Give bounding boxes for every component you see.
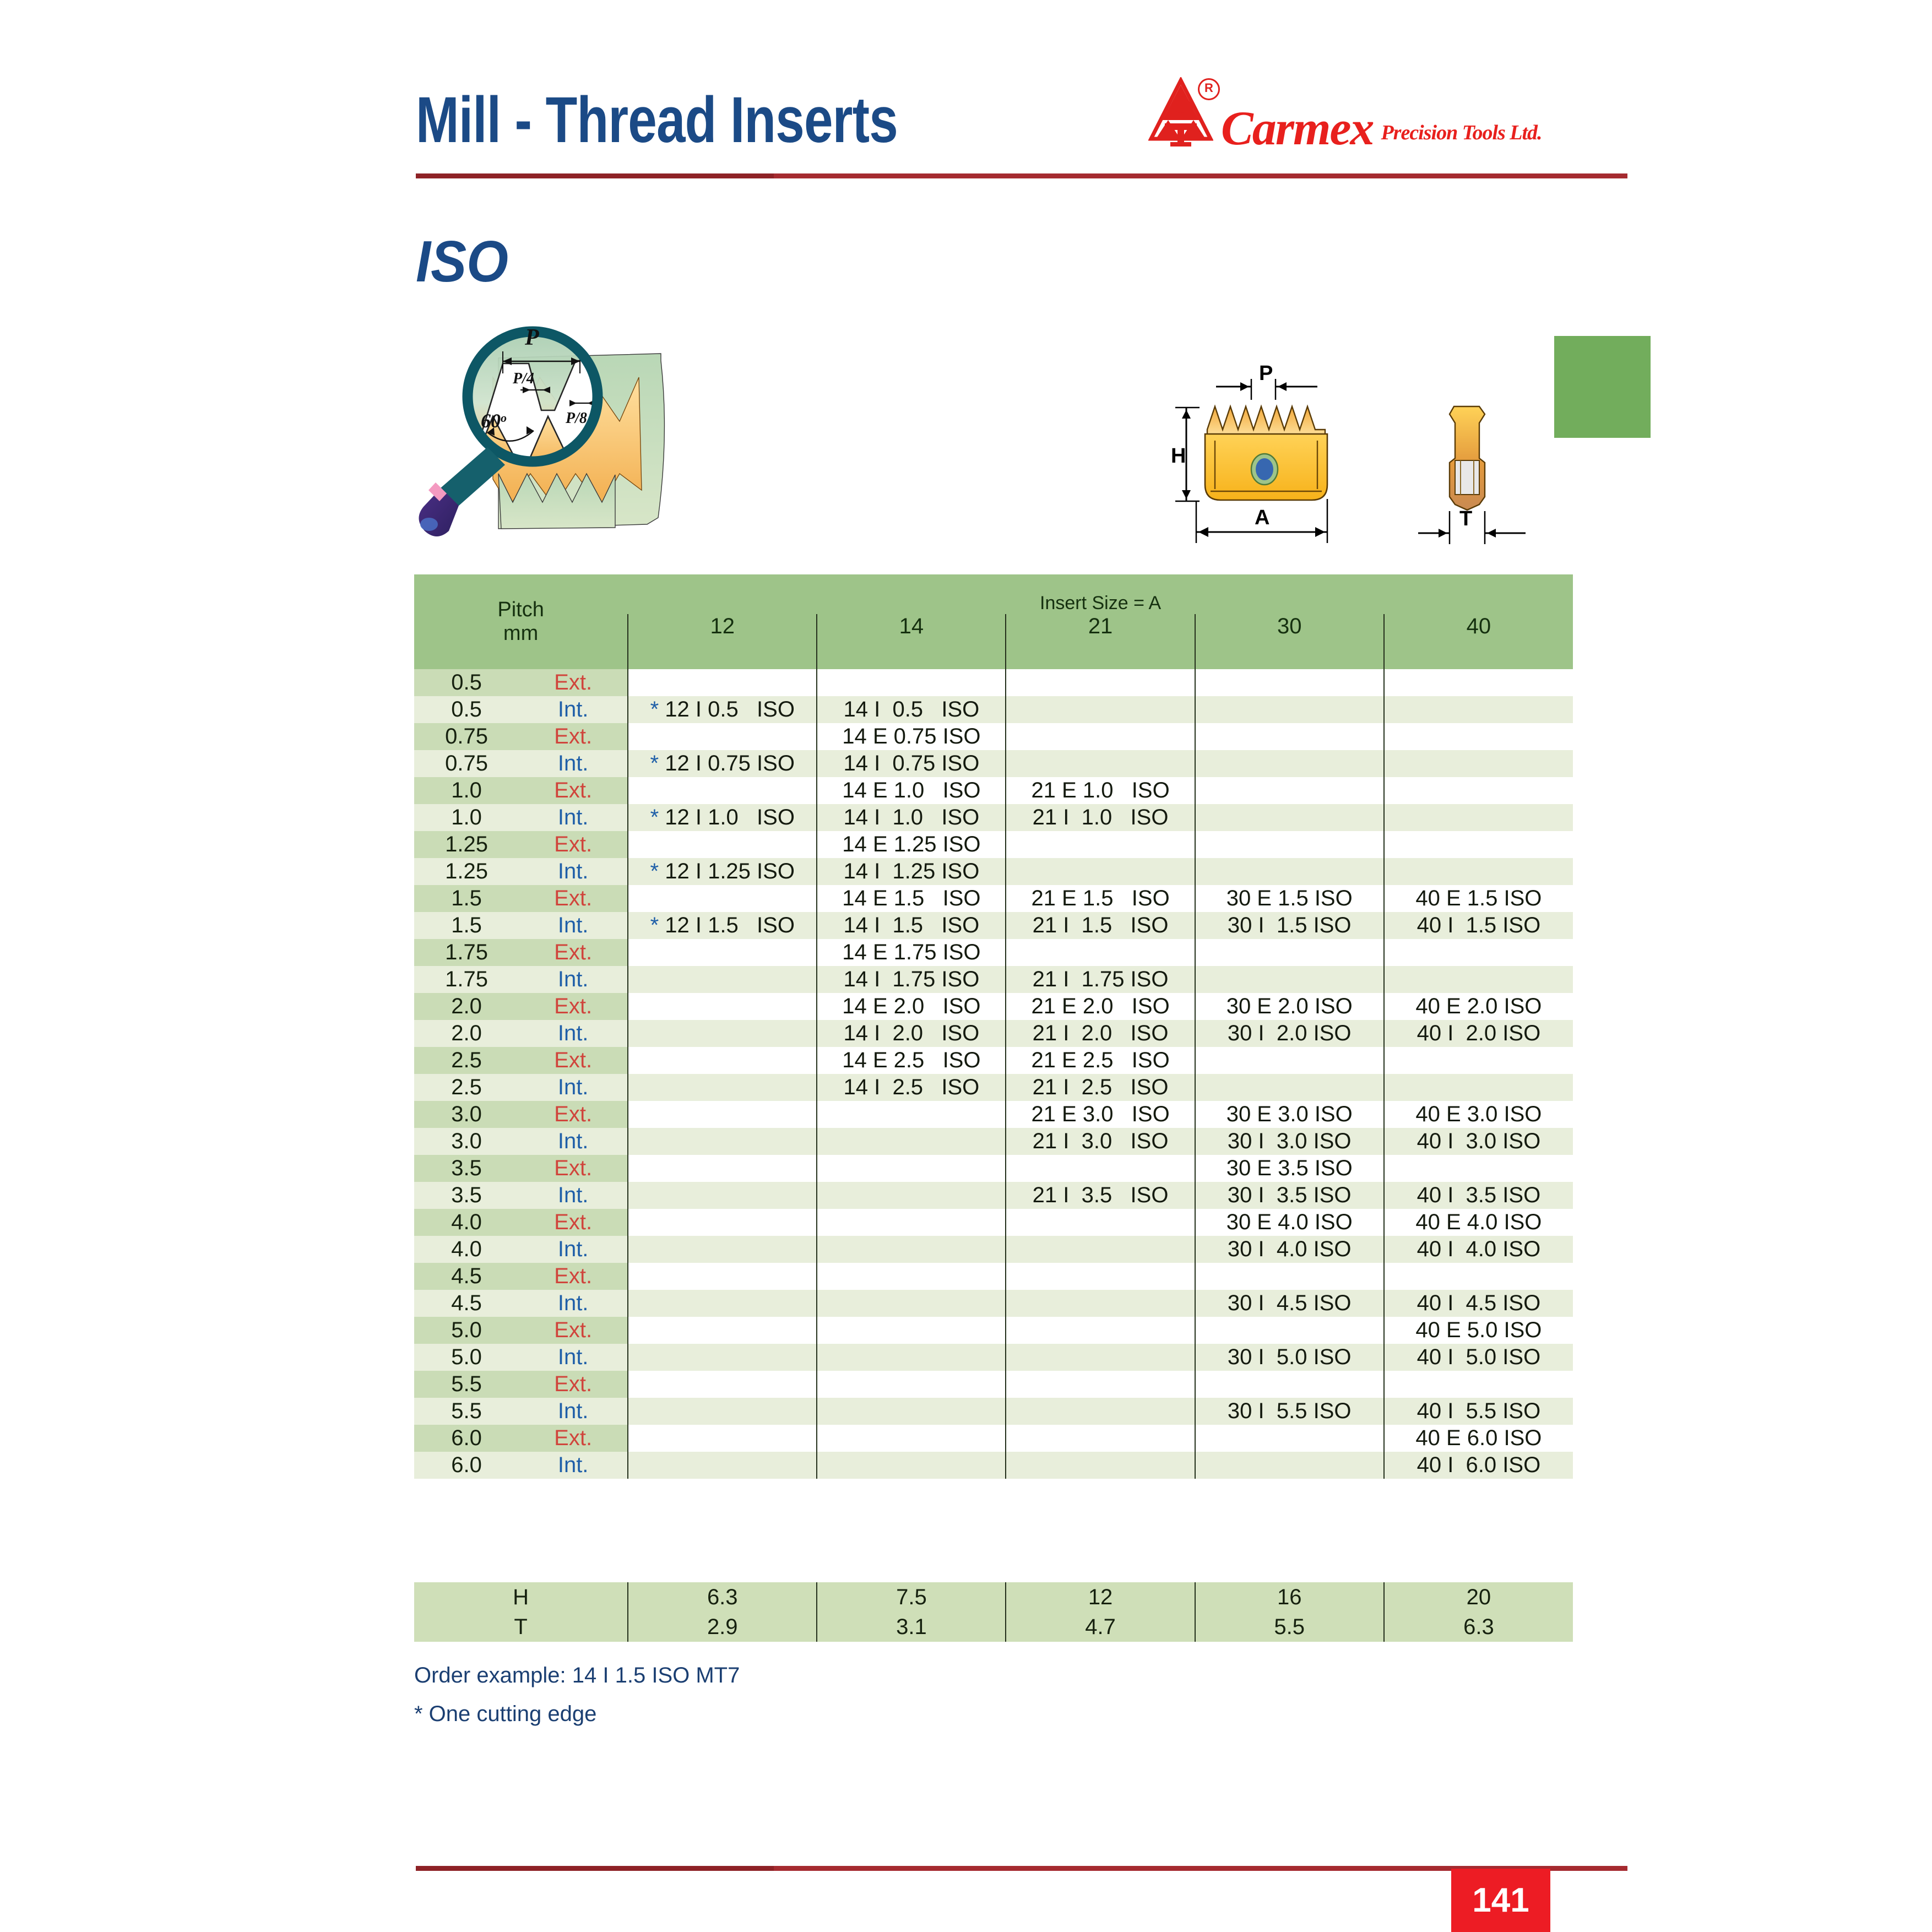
cell-code-40	[1384, 750, 1573, 777]
cell-pitch: 0.5	[414, 669, 519, 696]
logo-wordmark: Carmex	[1221, 107, 1373, 150]
cell-pitch: 1.5	[414, 885, 519, 912]
carmex-logo: R Carmex Precision Tools Ltd.	[1148, 77, 1542, 150]
cell-code-12	[628, 939, 817, 966]
dimension-value-T-12: 2.9	[628, 1612, 817, 1642]
cell-type-int: Int.	[519, 912, 628, 939]
table-row: 1.5Int.* 12 I 1.5 ISO14 I 1.5 ISO21 I 1.…	[414, 912, 1573, 939]
dimension-value-T-30: 5.5	[1195, 1612, 1384, 1642]
cell-code-30	[1195, 1263, 1384, 1290]
cell-type-int: Int.	[519, 1236, 628, 1263]
table-body: 0.5Ext.0.5Int.* 12 I 0.5 ISO14 I 0.5 ISO…	[414, 669, 1573, 1479]
cell-code-40	[1384, 1263, 1573, 1290]
cell-code-14: 14 E 0.75 ISO	[817, 723, 1006, 750]
insert-size-span-header: Insert Size = A	[628, 574, 1573, 614]
cell-code-14	[817, 1155, 1006, 1182]
cell-code-30: 30 I 5.0 ISO	[1195, 1344, 1384, 1371]
cell-code-14: 14 I 2.5 ISO	[817, 1074, 1006, 1101]
one-cutting-edge-marker: *	[650, 859, 659, 883]
cell-code-14	[817, 1101, 1006, 1128]
cell-code-40: 40 I 4.0 ISO	[1384, 1236, 1573, 1263]
insert-size-table: Pitch mm Insert Size = A 12 14 21 30 40 …	[414, 574, 1573, 1479]
cell-type-ext: Ext.	[519, 1425, 628, 1452]
cell-code-40: 40 E 1.5 ISO	[1384, 885, 1573, 912]
cell-code-14: 14 I 0.75 ISO	[817, 750, 1006, 777]
cell-code-30	[1195, 804, 1384, 831]
pitch-header-line1: Pitch	[414, 598, 627, 622]
cell-code-40	[1384, 1155, 1573, 1182]
cell-code-14: 14 E 1.5 ISO	[817, 885, 1006, 912]
table-row: 4.0Ext.30 E 4.0 ISO40 E 4.0 ISO	[414, 1209, 1573, 1236]
cell-pitch: 4.5	[414, 1263, 519, 1290]
cell-pitch: 0.5	[414, 696, 519, 723]
cell-code-21	[1006, 1425, 1195, 1452]
cell-code-14	[817, 1182, 1006, 1209]
cell-code-12	[628, 1263, 817, 1290]
cell-code-12: * 12 I 1.5 ISO	[628, 912, 817, 939]
cell-code-30	[1195, 777, 1384, 804]
cell-type-int: Int.	[519, 1182, 628, 1209]
cell-code-40	[1384, 669, 1573, 696]
cell-code-30	[1195, 750, 1384, 777]
cell-code-30	[1195, 858, 1384, 885]
cell-code-30: 30 I 4.5 ISO	[1195, 1290, 1384, 1317]
footer-divider	[416, 1866, 1627, 1871]
cell-code-40	[1384, 1047, 1573, 1074]
cell-code-14: 14 I 1.75 ISO	[817, 966, 1006, 993]
cell-type-int: Int.	[519, 1344, 628, 1371]
cell-code-40: 40 E 5.0 ISO	[1384, 1317, 1573, 1344]
table-row: 4.5Ext.	[414, 1263, 1573, 1290]
cell-pitch: 5.0	[414, 1317, 519, 1344]
cell-code-21: 21 I 1.75 ISO	[1006, 966, 1195, 993]
insert-dimension-diagram: P H A	[1168, 352, 1564, 567]
cell-code-21: 21 I 2.0 ISO	[1006, 1020, 1195, 1047]
thread-profile-illustration: P P/4 P/8 60o	[410, 308, 708, 562]
cell-code-12	[628, 993, 817, 1020]
cell-pitch: 2.0	[414, 993, 519, 1020]
dimension-value-H-21: 12	[1006, 1582, 1195, 1612]
cell-pitch: 6.0	[414, 1452, 519, 1479]
cell-code-12	[628, 1074, 817, 1101]
cell-pitch: 1.0	[414, 777, 519, 804]
pitch-header: Pitch mm	[414, 574, 628, 669]
cell-type-ext: Ext.	[519, 1263, 628, 1290]
cell-code-12	[628, 1047, 817, 1074]
cell-code-30: 30 I 1.5 ISO	[1195, 912, 1384, 939]
cell-type-ext: Ext.	[519, 777, 628, 804]
cell-code-14: 14 I 0.5 ISO	[817, 696, 1006, 723]
dimension-label-H: H	[414, 1582, 628, 1612]
cell-code-30: 30 E 3.0 ISO	[1195, 1101, 1384, 1128]
cell-code-12	[628, 885, 817, 912]
cutting-edge-footnote: * One cutting edge	[414, 1702, 596, 1727]
table-row: 1.5Ext.14 E 1.5 ISO21 E 1.5 ISO30 E 1.5 …	[414, 885, 1573, 912]
cell-code-30: 30 E 4.0 ISO	[1195, 1209, 1384, 1236]
cell-code-21	[1006, 1290, 1195, 1317]
cell-type-ext: Ext.	[519, 939, 628, 966]
one-cutting-edge-marker: *	[650, 913, 659, 937]
table-row: 5.5Ext.	[414, 1371, 1573, 1398]
cell-type-ext: Ext.	[519, 1371, 628, 1398]
cell-code-40	[1384, 966, 1573, 993]
label-pitch-quarter: P/4	[512, 370, 534, 387]
label-insert-pitch: P	[1259, 362, 1273, 385]
cell-code-14: 14 E 2.5 ISO	[817, 1047, 1006, 1074]
dimension-summary-table: H6.37.5121620T2.93.14.75.56.3	[414, 1582, 1573, 1642]
cell-code-12: * 12 I 0.75 ISO	[628, 750, 817, 777]
cell-type-ext: Ext.	[519, 993, 628, 1020]
cell-pitch: 0.75	[414, 723, 519, 750]
cell-code-40: 40 I 4.5 ISO	[1384, 1290, 1573, 1317]
label-insert-thickness: T	[1459, 507, 1472, 530]
cell-code-14: 14 E 2.0 ISO	[817, 993, 1006, 1020]
cell-code-40: 40 I 1.5 ISO	[1384, 912, 1573, 939]
cell-code-21	[1006, 1263, 1195, 1290]
cell-type-int: Int.	[519, 750, 628, 777]
table-row: 1.25Ext.14 E 1.25 ISO	[414, 831, 1573, 858]
table-row: 5.0Ext.40 E 5.0 ISO	[414, 1317, 1573, 1344]
table-row: 0.75Int.* 12 I 0.75 ISO14 I 0.75 ISO	[414, 750, 1573, 777]
cell-code-30	[1195, 966, 1384, 993]
cell-type-int: Int.	[519, 1290, 628, 1317]
cell-code-40	[1384, 1074, 1573, 1101]
dimension-value-T-14: 3.1	[817, 1612, 1006, 1642]
cell-code-40	[1384, 939, 1573, 966]
table-row: 3.5Ext.30 E 3.5 ISO	[414, 1155, 1573, 1182]
cell-type-ext: Ext.	[519, 1047, 628, 1074]
cell-code-14: 14 E 1.25 ISO	[817, 831, 1006, 858]
cell-code-21	[1006, 1371, 1195, 1398]
cell-code-12: * 12 I 0.5 ISO	[628, 696, 817, 723]
cell-code-14	[817, 1317, 1006, 1344]
cell-code-14	[817, 1398, 1006, 1425]
cell-code-21: 21 E 2.0 ISO	[1006, 993, 1195, 1020]
cell-pitch: 5.5	[414, 1398, 519, 1425]
cell-code-21	[1006, 1398, 1195, 1425]
table-row: 5.5Int.30 I 5.5 ISO40 I 5.5 ISO	[414, 1398, 1573, 1425]
label-pitch-P: P	[524, 325, 539, 350]
cell-code-30	[1195, 723, 1384, 750]
cell-code-12	[628, 1128, 817, 1155]
cell-code-21	[1006, 1209, 1195, 1236]
cell-code-30: 30 E 1.5 ISO	[1195, 885, 1384, 912]
cell-code-21: 21 I 3.0 ISO	[1006, 1128, 1195, 1155]
cell-pitch: 4.0	[414, 1209, 519, 1236]
cell-code-30	[1195, 696, 1384, 723]
dimension-value-H-40: 20	[1384, 1582, 1573, 1612]
cell-code-21	[1006, 1344, 1195, 1371]
cell-code-21	[1006, 750, 1195, 777]
cell-pitch: 2.0	[414, 1020, 519, 1047]
cell-type-ext: Ext.	[519, 1101, 628, 1128]
section-color-tab	[1554, 336, 1651, 438]
cell-pitch: 1.5	[414, 912, 519, 939]
cell-code-40	[1384, 831, 1573, 858]
table-row: 0.75Ext.14 E 0.75 ISO	[414, 723, 1573, 750]
cell-code-30: 30 I 3.0 ISO	[1195, 1128, 1384, 1155]
cell-code-14	[817, 1452, 1006, 1479]
cell-code-12	[628, 1182, 817, 1209]
table-row: 3.0Ext.21 E 3.0 ISO30 E 3.0 ISO40 E 3.0 …	[414, 1101, 1573, 1128]
cell-code-30	[1195, 669, 1384, 696]
section-title: ISO	[416, 229, 508, 295]
cell-code-40: 40 E 4.0 ISO	[1384, 1209, 1573, 1236]
cell-type-int: Int.	[519, 1452, 628, 1479]
cell-code-40: 40 E 3.0 ISO	[1384, 1101, 1573, 1128]
cell-pitch: 5.0	[414, 1344, 519, 1371]
dimension-value-T-21: 4.7	[1006, 1612, 1195, 1642]
table-row: 6.0Int.40 I 6.0 ISO	[414, 1452, 1573, 1479]
cell-code-12	[628, 1425, 817, 1452]
table-row: 4.5Int.30 I 4.5 ISO40 I 4.5 ISO	[414, 1290, 1573, 1317]
cell-code-12	[628, 1344, 817, 1371]
cell-code-14	[817, 1128, 1006, 1155]
column-header-21: 21	[1006, 614, 1195, 669]
label-pitch-eighth: P/8	[565, 410, 587, 427]
table-row: 2.0Ext.14 E 2.0 ISO21 E 2.0 ISO30 E 2.0 …	[414, 993, 1573, 1020]
cell-code-14: 14 E 1.75 ISO	[817, 939, 1006, 966]
cell-code-12	[628, 669, 817, 696]
cell-code-40	[1384, 804, 1573, 831]
cell-code-21	[1006, 1236, 1195, 1263]
cell-code-14	[817, 1371, 1006, 1398]
cell-code-14	[817, 1290, 1006, 1317]
cell-code-21: 21 I 1.0 ISO	[1006, 804, 1195, 831]
cell-code-30	[1195, 1317, 1384, 1344]
cell-code-30	[1195, 831, 1384, 858]
page-header: Mill - Thread Inserts R Carmex Precision…	[0, 77, 1932, 187]
table-row: 2.5Ext.14 E 2.5 ISO21 E 2.5 ISO	[414, 1047, 1573, 1074]
cell-code-40: 40 I 5.0 ISO	[1384, 1344, 1573, 1371]
cell-code-14: 14 I 1.5 ISO	[817, 912, 1006, 939]
label-insert-height: H	[1171, 444, 1186, 468]
cell-code-21: 21 E 3.0 ISO	[1006, 1101, 1195, 1128]
cell-code-30	[1195, 1425, 1384, 1452]
cell-code-30: 30 I 2.0 ISO	[1195, 1020, 1384, 1047]
cell-code-14	[817, 1263, 1006, 1290]
cell-code-21	[1006, 1452, 1195, 1479]
cell-type-ext: Ext.	[519, 1209, 628, 1236]
cell-code-30: 30 E 3.5 ISO	[1195, 1155, 1384, 1182]
cell-pitch: 0.75	[414, 750, 519, 777]
cell-code-12	[628, 1236, 817, 1263]
cell-code-12	[628, 1020, 817, 1047]
cell-code-12	[628, 777, 817, 804]
dimension-row: T2.93.14.75.56.3	[414, 1612, 1573, 1642]
cell-code-21	[1006, 1155, 1195, 1182]
table-row: 6.0Ext.40 E 6.0 ISO	[414, 1425, 1573, 1452]
cell-code-40: 40 I 3.5 ISO	[1384, 1182, 1573, 1209]
carmex-triangle-icon: R	[1148, 77, 1213, 150]
cell-code-40: 40 I 5.5 ISO	[1384, 1398, 1573, 1425]
cell-code-40: 40 I 3.0 ISO	[1384, 1128, 1573, 1155]
table-row: 1.0Int.* 12 I 1.0 ISO14 I 1.0 ISO21 I 1.…	[414, 804, 1573, 831]
table-header: Pitch mm Insert Size = A 12 14 21 30 40	[414, 574, 1573, 669]
cell-code-30	[1195, 1047, 1384, 1074]
cell-code-21	[1006, 669, 1195, 696]
table-row: 0.5Ext.	[414, 669, 1573, 696]
table-row: 1.75Int.14 I 1.75 ISO21 I 1.75 ISO	[414, 966, 1573, 993]
table-row: 5.0Int.30 I 5.0 ISO40 I 5.0 ISO	[414, 1344, 1573, 1371]
cell-pitch: 5.5	[414, 1371, 519, 1398]
cell-code-12	[628, 1290, 817, 1317]
cell-code-30: 30 I 5.5 ISO	[1195, 1398, 1384, 1425]
cell-pitch: 3.0	[414, 1128, 519, 1155]
cell-code-40: 40 E 6.0 ISO	[1384, 1425, 1573, 1452]
order-example-note: Order example: 14 I 1.5 ISO MT7	[414, 1663, 740, 1688]
cell-type-int: Int.	[519, 804, 628, 831]
cell-type-int: Int.	[519, 1074, 628, 1101]
column-header-14: 14	[817, 614, 1006, 669]
cell-code-12: * 12 I 1.0 ISO	[628, 804, 817, 831]
cell-code-21: 21 E 1.5 ISO	[1006, 885, 1195, 912]
cell-code-14: 14 I 1.0 ISO	[817, 804, 1006, 831]
cell-pitch: 4.0	[414, 1236, 519, 1263]
cell-pitch: 6.0	[414, 1425, 519, 1452]
cell-code-21: 21 E 1.0 ISO	[1006, 777, 1195, 804]
cell-type-ext: Ext.	[519, 1155, 628, 1182]
dimension-value-T-40: 6.3	[1384, 1612, 1573, 1642]
one-cutting-edge-marker: *	[650, 697, 659, 721]
cell-type-int: Int.	[519, 1020, 628, 1047]
cell-pitch: 3.5	[414, 1155, 519, 1182]
cell-code-21: 21 I 1.5 ISO	[1006, 912, 1195, 939]
cell-code-12	[628, 1317, 817, 1344]
cell-code-14	[817, 1236, 1006, 1263]
cell-code-40	[1384, 858, 1573, 885]
cell-code-40	[1384, 777, 1573, 804]
cell-code-12	[628, 1155, 817, 1182]
registered-trademark-icon: R	[1198, 78, 1220, 100]
logo-tagline: Precision Tools Ltd.	[1381, 122, 1542, 150]
cell-type-int: Int.	[519, 696, 628, 723]
cell-type-ext: Ext.	[519, 669, 628, 696]
cell-code-30: 30 I 3.5 ISO	[1195, 1182, 1384, 1209]
cell-code-40	[1384, 723, 1573, 750]
cell-code-21: 21 I 3.5 ISO	[1006, 1182, 1195, 1209]
dimension-row: H6.37.5121620	[414, 1582, 1573, 1612]
cell-code-21: 21 E 2.5 ISO	[1006, 1047, 1195, 1074]
cell-pitch: 1.75	[414, 966, 519, 993]
cell-type-int: Int.	[519, 1398, 628, 1425]
cell-code-40: 40 E 2.0 ISO	[1384, 993, 1573, 1020]
cell-code-40: 40 I 6.0 ISO	[1384, 1452, 1573, 1479]
catalog-page: Mill - Thread Inserts R Carmex Precision…	[0, 0, 1932, 1932]
cell-code-12	[628, 1101, 817, 1128]
cell-code-12: * 12 I 1.25 ISO	[628, 858, 817, 885]
cell-pitch: 1.25	[414, 858, 519, 885]
one-cutting-edge-marker: *	[650, 751, 659, 775]
cell-pitch: 1.0	[414, 804, 519, 831]
dimension-value-H-14: 7.5	[817, 1582, 1006, 1612]
table-row: 4.0Int.30 I 4.0 ISO40 I 4.0 ISO	[414, 1236, 1573, 1263]
table-row: 3.0Int.21 I 3.0 ISO30 I 3.0 ISO40 I 3.0 …	[414, 1128, 1573, 1155]
cell-code-40	[1384, 696, 1573, 723]
cell-type-int: Int.	[519, 1128, 628, 1155]
cell-code-14	[817, 669, 1006, 696]
cell-code-14: 14 E 1.0 ISO	[817, 777, 1006, 804]
one-cutting-edge-marker: *	[650, 805, 659, 829]
cell-code-12	[628, 966, 817, 993]
cell-code-21	[1006, 858, 1195, 885]
column-header-12: 12	[628, 614, 817, 669]
cell-pitch: 4.5	[414, 1290, 519, 1317]
cell-pitch: 1.25	[414, 831, 519, 858]
dimension-value-H-12: 6.3	[628, 1582, 817, 1612]
cell-type-int: Int.	[519, 858, 628, 885]
table-row: 1.75Ext.14 E 1.75 ISO	[414, 939, 1573, 966]
table-row: 2.5Int.14 I 2.5 ISO21 I 2.5 ISO	[414, 1074, 1573, 1101]
cell-code-12	[628, 831, 817, 858]
cell-pitch: 3.0	[414, 1101, 519, 1128]
cell-code-14	[817, 1344, 1006, 1371]
cell-code-30	[1195, 1371, 1384, 1398]
cell-code-21: 21 I 2.5 ISO	[1006, 1074, 1195, 1101]
cell-type-ext: Ext.	[519, 885, 628, 912]
header-divider	[416, 173, 1627, 178]
cell-code-21	[1006, 696, 1195, 723]
cell-code-21	[1006, 831, 1195, 858]
cell-code-30	[1195, 1452, 1384, 1479]
dimension-value-H-30: 16	[1195, 1582, 1384, 1612]
cell-code-21	[1006, 723, 1195, 750]
cell-code-12	[628, 1371, 817, 1398]
dimension-label-T: T	[414, 1612, 628, 1642]
table-row: 3.5Int.21 I 3.5 ISO30 I 3.5 ISO40 I 3.5 …	[414, 1182, 1573, 1209]
cell-code-12	[628, 1398, 817, 1425]
cell-code-40	[1384, 1371, 1573, 1398]
cell-code-30	[1195, 1074, 1384, 1101]
column-header-30: 30	[1195, 614, 1384, 669]
table-row: 1.25Int.* 12 I 1.25 ISO14 I 1.25 ISO	[414, 858, 1573, 885]
cell-code-30	[1195, 939, 1384, 966]
cell-pitch: 1.75	[414, 939, 519, 966]
cell-code-14: 14 I 2.0 ISO	[817, 1020, 1006, 1047]
page-title: Mill - Thread Inserts	[416, 83, 898, 158]
cell-code-14	[817, 1425, 1006, 1452]
cell-code-12	[628, 1209, 817, 1236]
table-row: 0.5Int.* 12 I 0.5 ISO14 I 0.5 ISO	[414, 696, 1573, 723]
cell-type-ext: Ext.	[519, 723, 628, 750]
page-number: 141	[1451, 1869, 1550, 1932]
cell-code-21	[1006, 939, 1195, 966]
label-insert-width: A	[1255, 506, 1269, 529]
cell-type-int: Int.	[519, 966, 628, 993]
cell-code-12	[628, 1452, 817, 1479]
table-row: 1.0Ext.14 E 1.0 ISO21 E 1.0 ISO	[414, 777, 1573, 804]
cell-code-21	[1006, 1317, 1195, 1344]
table-row: 2.0Int.14 I 2.0 ISO21 I 2.0 ISO30 I 2.0 …	[414, 1020, 1573, 1047]
cell-code-14: 14 I 1.25 ISO	[817, 858, 1006, 885]
cell-code-40: 40 I 2.0 ISO	[1384, 1020, 1573, 1047]
pitch-header-line2: mm	[414, 622, 627, 645]
cell-type-ext: Ext.	[519, 831, 628, 858]
cell-code-14	[817, 1209, 1006, 1236]
column-header-40: 40	[1384, 614, 1573, 669]
cell-pitch: 3.5	[414, 1182, 519, 1209]
cell-type-ext: Ext.	[519, 1317, 628, 1344]
cell-pitch: 2.5	[414, 1047, 519, 1074]
cell-code-30: 30 I 4.0 ISO	[1195, 1236, 1384, 1263]
cell-code-12	[628, 723, 817, 750]
cell-pitch: 2.5	[414, 1074, 519, 1101]
cell-code-30: 30 E 2.0 ISO	[1195, 993, 1384, 1020]
